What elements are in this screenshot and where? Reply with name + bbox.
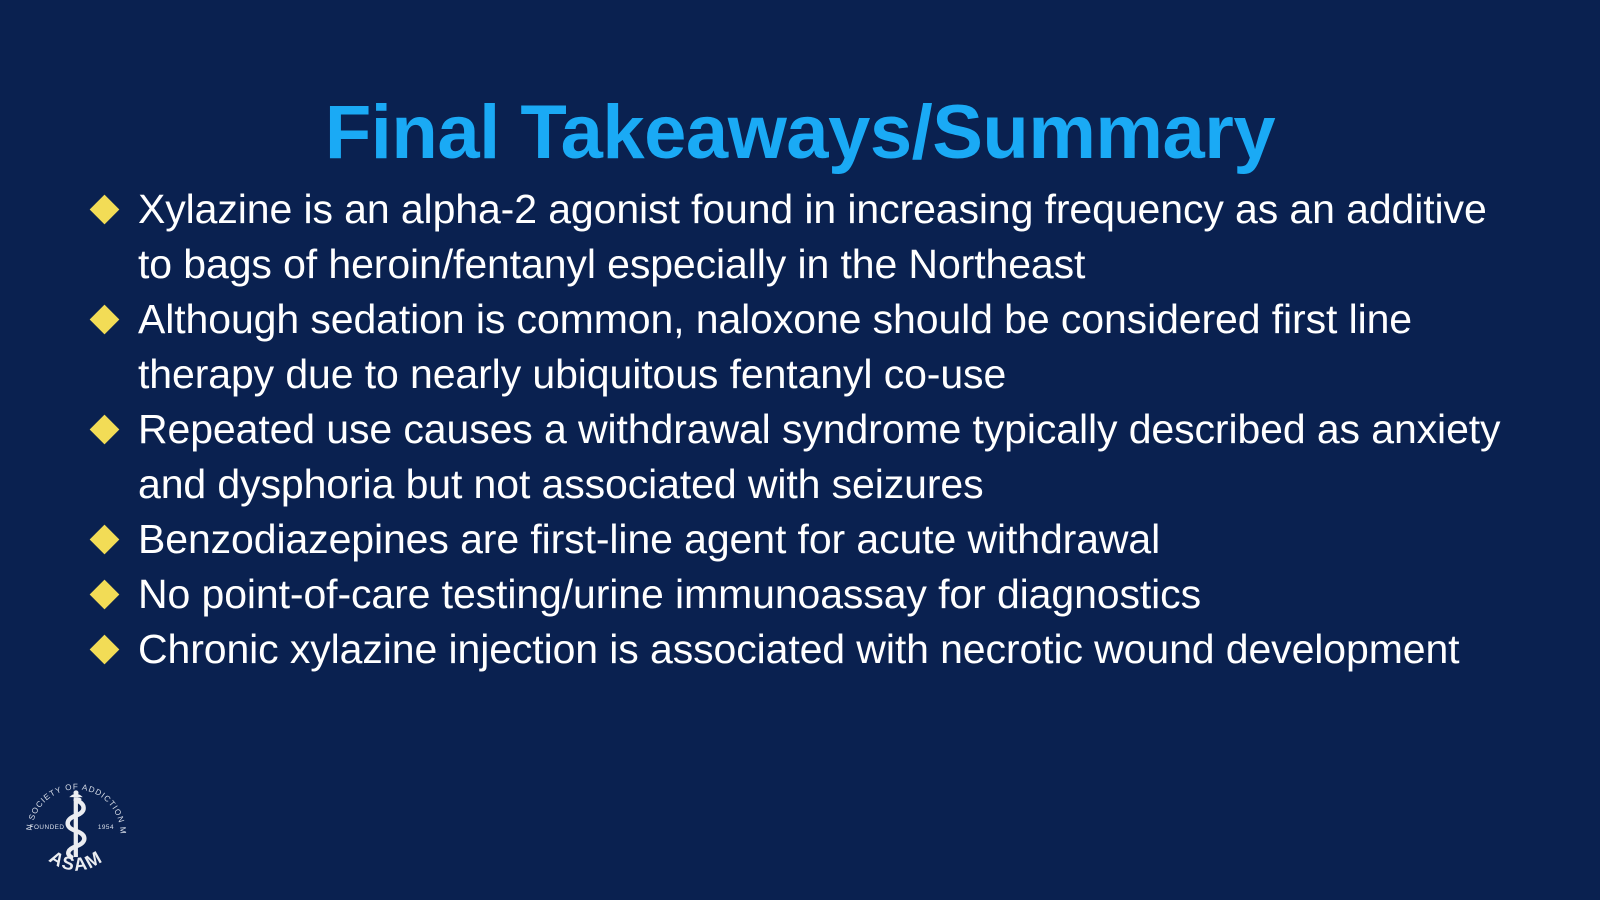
list-item-label: Benzodiazepines are first-line agent for…	[138, 512, 1508, 567]
bullet-list: Xylazine is an alpha-2 agonist found in …	[88, 182, 1508, 677]
list-item-label: Repeated use causes a withdrawal syndrom…	[138, 402, 1508, 512]
diamond-bullet-icon	[88, 567, 138, 605]
asam-founded-year: 1954	[98, 824, 114, 831]
list-item: Benzodiazepines are first-line agent for…	[88, 512, 1508, 567]
list-item: Although sedation is common, naloxone sh…	[88, 292, 1508, 402]
diamond-bullet-icon	[88, 292, 138, 330]
diamond-bullet-icon	[88, 402, 138, 440]
asam-founded-label: FOUNDED	[30, 824, 65, 831]
page-title: Final Takeaways/Summary	[0, 89, 1600, 177]
list-item-label: Although sedation is common, naloxone sh…	[138, 292, 1508, 402]
list-item: Repeated use causes a withdrawal syndrom…	[88, 402, 1508, 512]
diamond-bullet-icon	[88, 182, 138, 220]
list-item-label: Xylazine is an alpha-2 agonist found in …	[138, 182, 1508, 292]
list-item: No point-of-care testing/urine immunoass…	[88, 567, 1508, 622]
list-item-label: Chronic xylazine injection is associated…	[138, 622, 1508, 677]
diamond-bullet-icon	[88, 512, 138, 550]
rod-of-asclepius-icon	[68, 790, 85, 857]
list-item-label: No point-of-care testing/urine immunoass…	[138, 567, 1508, 622]
list-item: Chronic xylazine injection is associated…	[88, 622, 1508, 677]
slide: Final Takeaways/Summary Xylazine is an a…	[0, 0, 1600, 900]
list-item: Xylazine is an alpha-2 agonist found in …	[88, 182, 1508, 292]
diamond-bullet-icon	[88, 622, 138, 660]
asam-logo: AMERICAN SOCIETY OF ADDICTION MEDICINE F…	[18, 774, 134, 886]
